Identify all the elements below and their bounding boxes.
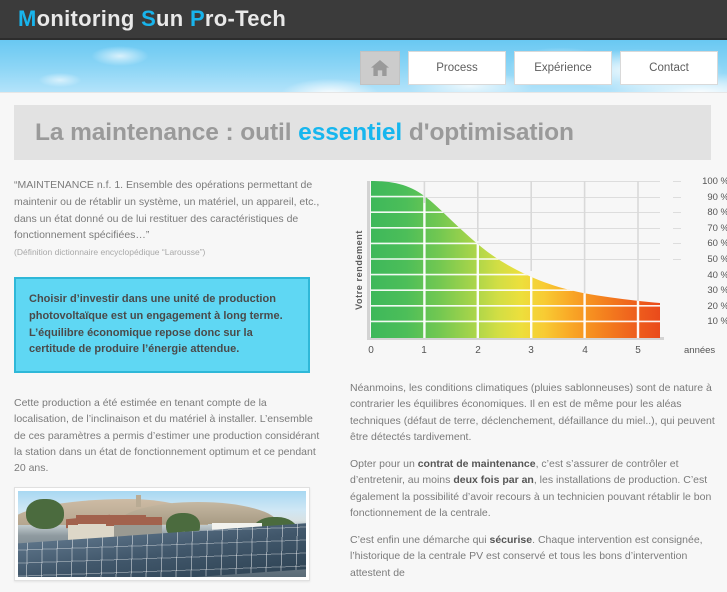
chart-ytick-dash-70 — [673, 228, 681, 229]
photo-church-tower — [136, 495, 141, 507]
page-title: La maintenance : outil essentiel d'optim… — [35, 119, 574, 147]
chart-ytick-label-20: 20 % — [685, 301, 727, 312]
chart-ytick-dash-90 — [673, 197, 681, 198]
main-navigation: Process Expérience Contact — [360, 51, 718, 85]
investment-callout-text: Choisir d’investir dans une unité de pro… — [29, 291, 295, 358]
chart-ytick-label-90: 90 % — [685, 192, 727, 203]
chart-xtick-label-2: 2 — [475, 345, 481, 356]
chart-xtick-label-1: 1 — [421, 345, 427, 356]
production-estimate-paragraph: Cette production a été estimée en tenant… — [14, 395, 322, 476]
photo-tree-left — [26, 499, 64, 529]
chart-ytick-label-60: 60 % — [685, 238, 727, 249]
home-icon — [370, 59, 390, 77]
nav-item-process-label: Process — [436, 62, 478, 74]
logo-text-onitoring: onitoring — [37, 6, 141, 31]
investment-callout-box: Choisir d’investir dans une unité de pro… — [14, 277, 310, 373]
photo-solar-panels — [18, 523, 306, 578]
chart-ytick-dash-60 — [673, 243, 681, 244]
chart-ytick-label-100: 100 % — [685, 176, 727, 187]
chart-ytick-label-30: 30 % — [685, 285, 727, 296]
climate-conditions-paragraph: Néanmoins, les conditions climatiques (p… — [350, 380, 727, 445]
nav-item-process[interactable]: Process — [408, 51, 506, 85]
chart-area-series — [371, 181, 660, 338]
nav-item-contact-label: Contact — [649, 62, 689, 74]
definition-source: (Définition dictionnaire encyclopédique … — [14, 247, 322, 257]
chart-ytick-label-40: 40 % — [685, 270, 727, 281]
solar-plant-photo — [18, 491, 306, 577]
logo-letter-s: S — [141, 6, 156, 31]
chart-xtick-label-0: 0 — [368, 345, 374, 356]
bold-deux-fois-par-an: deux fois par an — [453, 474, 534, 486]
logo-letter-m: M — [18, 6, 37, 31]
chart-y-axis-title: Votre rendement — [352, 195, 366, 345]
chart-ytick-dash-50 — [673, 259, 681, 260]
chart-y-axis-line — [367, 181, 370, 339]
page-title-before: La maintenance : outil — [35, 119, 298, 146]
security-paragraph: C’est enfin une démarche qui sécurise. C… — [350, 532, 727, 581]
maintenance-contract-paragraph: Opter pour un contrat de maintenance, c’… — [350, 456, 727, 521]
page-content: La maintenance : outil essentiel d'optim… — [0, 92, 727, 545]
nav-item-experience[interactable]: Expérience — [514, 51, 612, 85]
page-title-band: La maintenance : outil essentiel d'optim… — [14, 105, 711, 160]
chart-ytick-label-80: 80 % — [685, 207, 727, 218]
maintenance-definition-quote: “MAINTENANCE n.f. 1. Ensemble des opérat… — [14, 177, 322, 244]
right-column-text: Néanmoins, les conditions climatiques (p… — [350, 380, 727, 592]
logo-letter-p: P — [190, 6, 205, 31]
bold-contrat-de-maintenance: contrat de maintenance — [418, 458, 536, 470]
chart-xtick-label-5: 5 — [635, 345, 641, 356]
site-logo[interactable]: Monitoring Sun Pro-Tech — [18, 6, 286, 32]
nav-home-button[interactable] — [360, 51, 400, 85]
chart-x-axis-unit: années — [684, 345, 715, 356]
chart-xtick-label-3: 3 — [528, 345, 534, 356]
top-bar: Monitoring Sun Pro-Tech — [0, 0, 727, 40]
logo-text-ro-tech: ro-Tech — [205, 6, 286, 31]
solar-plant-photo-frame — [14, 487, 310, 581]
chart-ytick-dash-80 — [673, 212, 681, 213]
left-column: “MAINTENANCE n.f. 1. Ensemble des opérat… — [14, 177, 322, 581]
chart-plot-area: 100 % 90 % 80 % 70 % 60 % 50 % 40 % 30 %… — [367, 181, 662, 339]
logo-text-un: un — [156, 6, 190, 31]
nav-item-contact[interactable]: Contact — [620, 51, 718, 85]
chart-ytick-label-50: 50 % — [685, 254, 727, 265]
bold-securise: sécurise — [490, 534, 533, 546]
page-title-after: d'optimisation — [402, 119, 574, 146]
yield-decline-chart: Votre rendement — [350, 177, 727, 372]
chart-ytick-label-70: 70 % — [685, 223, 727, 234]
nav-item-experience-label: Expérience — [534, 62, 592, 74]
chart-ytick-dash-100 — [673, 181, 681, 182]
chart-ytick-label-10: 10 % — [685, 316, 727, 327]
page-title-highlight: essentiel — [298, 119, 402, 146]
chart-xtick-label-4: 4 — [582, 345, 588, 356]
